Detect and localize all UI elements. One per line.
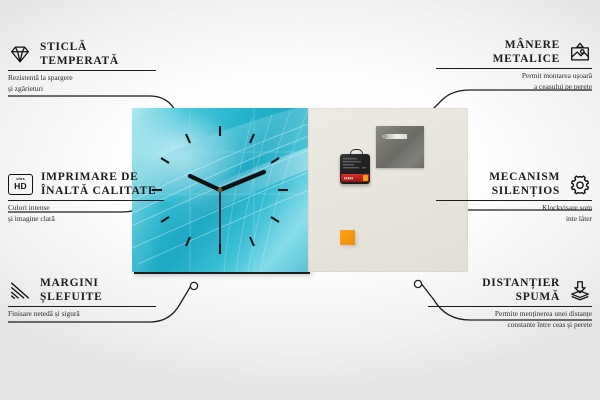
callout-mecanism-silentios: MECANISMSILENȚIOS Klockvisare som inte l… bbox=[432, 170, 592, 225]
clock-mechanism: ▮▮▮▮▮ bbox=[340, 154, 370, 184]
callout-imprimare-inalta-calitate: ultra HD IMPRIMARE DEÎNALTĂ CALITATE Cul… bbox=[8, 170, 168, 225]
hanger-slot-end bbox=[382, 135, 387, 138]
battery-plus-terminal bbox=[363, 175, 368, 181]
callout-title: MECANISMSILENȚIOS bbox=[489, 170, 560, 198]
callout-rule bbox=[436, 200, 592, 201]
leader-dot-distantier bbox=[414, 280, 421, 287]
callout-title: MÂNEREMETALICE bbox=[493, 38, 560, 66]
callout-title: STICLĂTEMPERATĂ bbox=[40, 40, 119, 68]
hanger-slot bbox=[385, 134, 407, 139]
callout-subtitle: Finisare netedă și sigură bbox=[8, 309, 160, 320]
infographic-stage: ▮▮▮▮▮ STICLĂTEMPERATĂ Rezistentă la spar… bbox=[0, 0, 600, 400]
ultra-hd-main-text: HD bbox=[14, 182, 27, 191]
callout-subtitle: Rezistentă la spargere și zgârieturi bbox=[8, 73, 160, 94]
mechanism-label-lines bbox=[343, 158, 367, 172]
callout-rule bbox=[428, 306, 592, 307]
callout-subtitle: Permite menținerea unei distanțe constan… bbox=[424, 309, 592, 330]
battery: ▮▮▮▮▮ bbox=[341, 174, 369, 182]
minute-hand bbox=[220, 172, 264, 190]
callout-rule bbox=[8, 200, 164, 201]
callout-subtitle: Klockvisare som inte låter bbox=[432, 203, 592, 224]
callout-title: DISTANȚIERSPUMĂ bbox=[482, 276, 560, 304]
foam-spacer bbox=[340, 230, 355, 245]
gear-icon bbox=[568, 174, 592, 195]
mechanism-hanger-loop bbox=[350, 149, 363, 157]
callout-rule bbox=[8, 306, 156, 307]
product-image: ▮▮▮▮▮ bbox=[132, 108, 468, 272]
arrow-onto-pad-icon bbox=[568, 280, 592, 301]
ultra-hd-icon: ultra HD bbox=[8, 174, 33, 195]
diamond-icon bbox=[8, 44, 32, 65]
callout-rule bbox=[8, 70, 156, 71]
callout-manere-metalice: MÂNEREMETALICE Permit montarea ușoară a … bbox=[432, 38, 592, 93]
battery-text: ▮▮▮▮▮ bbox=[344, 176, 353, 180]
callout-rule bbox=[436, 68, 592, 69]
callout-subtitle: Permit montarea ușoară a ceasului pe per… bbox=[432, 71, 592, 92]
callout-subtitle: Culori intense și imagine clară bbox=[8, 203, 168, 224]
callout-margini-slefuite: MARGINIȘLEFUITE Finisare netedă și sigur… bbox=[8, 276, 160, 320]
callout-title: MARGINIȘLEFUITE bbox=[40, 276, 102, 304]
callout-distantier-spuma: DISTANȚIERSPUMĂ Permite menținerea unei … bbox=[424, 276, 592, 331]
picture-hanger-icon bbox=[568, 42, 592, 63]
callout-title: IMPRIMARE DEÎNALTĂ CALITATE bbox=[41, 170, 156, 198]
callout-sticla-temperata: STICLĂTEMPERATĂ Rezistentă la spargere ș… bbox=[8, 40, 160, 95]
clock-center-cap bbox=[218, 188, 223, 193]
leader-dot-margini bbox=[190, 282, 197, 289]
hatch-lines-icon bbox=[8, 280, 32, 301]
metal-hanger-plate bbox=[376, 126, 424, 168]
hour-hand bbox=[190, 176, 220, 190]
